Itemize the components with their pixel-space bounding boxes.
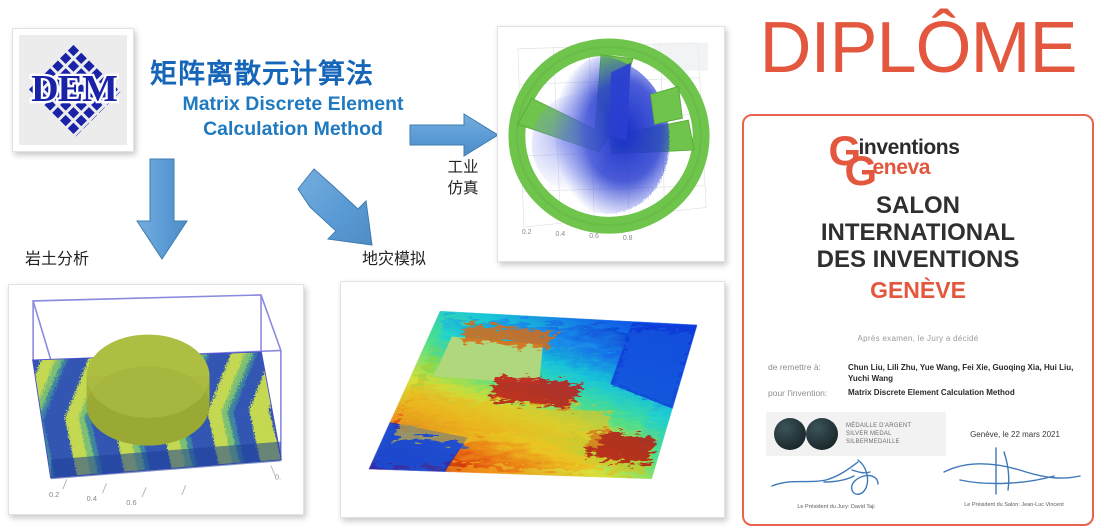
salon-title-line2: INTERNATIONAL	[744, 219, 1092, 246]
dem-logo-image: DEM	[19, 35, 127, 145]
svg-text:DEM: DEM	[31, 68, 117, 110]
medal-coin-back-icon	[806, 418, 838, 450]
dem-diamond-logo-icon: DEM	[19, 35, 129, 145]
arrow-caption-hazard: 地灾模拟	[362, 250, 426, 270]
svg-text:0.6: 0.6	[126, 498, 136, 507]
soil-box-simulation-plot: 0.2 0.4 0.6 0.	[15, 291, 297, 508]
diploma-frame: G G inventions eneva SALON INTERNATIONAL…	[742, 114, 1094, 526]
medal-caption-de: SILBERMEDAILLE	[846, 438, 911, 446]
svg-text:0.: 0.	[275, 472, 281, 481]
medal-caption-en: SILVER MEDAL	[846, 430, 911, 438]
svg-text:0.6: 0.6	[589, 233, 599, 240]
remettre-label: de remettre à:	[768, 362, 821, 372]
svg-text:0.2: 0.2	[522, 229, 532, 236]
figure-industrial-mixer: 0.2 0.4 0.6 0.8	[497, 26, 725, 262]
arrow-caption-industry-line2: 仿真	[443, 178, 483, 199]
signature-jury-icon	[766, 452, 906, 500]
geneve-subtitle: GENÈVE	[744, 277, 1092, 304]
medal-coin-front-icon	[774, 418, 806, 450]
geneva-logo-geneva: eneva	[873, 156, 931, 180]
signature-salon-icon	[934, 446, 1094, 498]
signature-jury-block: Le Président du Jury: David Taji	[766, 452, 906, 510]
svg-text:0.2: 0.2	[49, 490, 59, 499]
svg-text:0.8: 0.8	[623, 235, 633, 242]
invention-label: pour l'invention:	[768, 388, 827, 398]
page-title-english: Matrix Discrete Element Calculation Meth…	[148, 92, 438, 142]
salon-title-line3: DES INVENTIONS	[744, 246, 1092, 273]
salon-title: SALON INTERNATIONAL DES INVENTIONS	[744, 192, 1092, 273]
signature-jury-caption: Le Président du Jury: David Taji	[766, 504, 906, 510]
arrow-right-industry	[408, 112, 500, 158]
slide-canvas: DEM 矩阵离散元计算法 Matrix Discrete Element Cal…	[0, 0, 1104, 530]
inventions-geneva-logo: G G inventions eneva	[744, 132, 1092, 189]
dem-logo-card: DEM	[12, 28, 134, 152]
medal-badge: MÉDAILLE D'ARGENT SILVER MEDAL SILBERMED…	[766, 412, 946, 456]
diploma-date: Genève, le 22 mars 2021	[940, 430, 1090, 439]
invention-value: Matrix Discrete Element Calculation Meth…	[848, 388, 1078, 397]
diploma-certificate: DIPLÔME G G inventions eneva SALON INTER…	[736, 6, 1100, 528]
arrow-down-geotech	[132, 157, 192, 263]
page-title-chinese: 矩阵离散元计算法	[150, 52, 374, 91]
apres-examen-text: Après examen, le Jury a décidé	[744, 334, 1092, 343]
page-title-english-line2: Calculation Method	[148, 117, 438, 142]
svg-text:0.4: 0.4	[87, 494, 97, 503]
mixer-simulation-plot: 0.2 0.4 0.6 0.8	[504, 33, 718, 255]
diploma-heading: DIPLÔME	[736, 10, 1100, 86]
svg-text:0.4: 0.4	[556, 231, 566, 238]
terrain-relief-plot	[348, 289, 717, 510]
salon-title-line1: SALON	[744, 192, 1092, 219]
remettre-value: Chun Liu, Lili Zhu, Yue Wang, Fei Xie, G…	[848, 362, 1078, 384]
page-title-english-line1: Matrix Discrete Element	[148, 92, 438, 117]
signature-salon-caption: Le Président du Salon: Jean-Luc Vincent	[934, 502, 1094, 508]
figure-terrain-relief	[340, 281, 725, 518]
figure-geotechnical-soil: 0.2 0.4 0.6 0.	[8, 284, 304, 515]
arrow-caption-geotech: 岩土分析	[25, 250, 89, 270]
arrow-caption-industry-line1: 工业	[443, 157, 483, 178]
signature-salon-block: Le Président du Salon: Jean-Luc Vincent	[934, 446, 1094, 508]
medal-caption-fr: MÉDAILLE D'ARGENT	[846, 422, 911, 430]
arrow-caption-industry: 工业 仿真	[443, 157, 483, 199]
medal-caption: MÉDAILLE D'ARGENT SILVER MEDAL SILBERMED…	[846, 422, 911, 446]
